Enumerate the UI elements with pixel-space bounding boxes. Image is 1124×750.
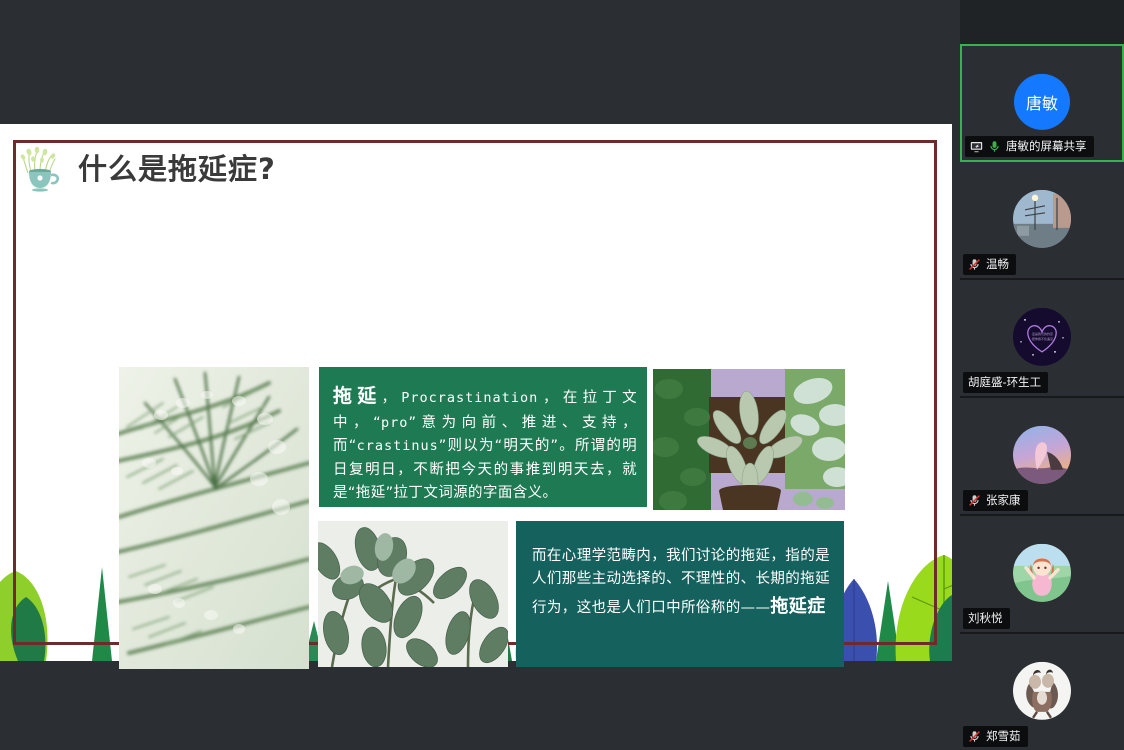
- tile-wenchang[interactable]: 温畅: [960, 162, 1124, 280]
- shared-screen-region: 什么是拖延症?: [0, 0, 960, 750]
- avatar: [1013, 426, 1071, 484]
- meeting-window: 什么是拖延症?: [0, 0, 1124, 750]
- svg-text:·爱是我们的约定·: ·爱是我们的约定·: [1031, 331, 1054, 336]
- microphone-muted-icon: [968, 258, 981, 271]
- participant-name: 温畅: [986, 256, 1009, 272]
- definition-latin-crastinus: crastinus: [357, 438, 439, 454]
- definition-quote-open: “: [373, 415, 381, 431]
- psychology-keyword: 拖延症: [770, 596, 825, 617]
- tile-screen-share[interactable]: 唐敏 唐敏的屏幕共享: [960, 44, 1124, 162]
- status-badge: 唐敏的屏幕共享: [965, 136, 1094, 157]
- avatar: ·爱是我们的约定··愿你我不负遇见·: [1013, 308, 1071, 366]
- tile-zhengxueru[interactable]: 郑雪茹: [960, 634, 1124, 750]
- definition-box: 拖延，Procrastination，在拉丁文中，“pro”意为向前、推进、支持…: [319, 367, 647, 507]
- definition-keyword: 拖延: [333, 385, 382, 407]
- participant-name: 刘秋悦: [968, 610, 1003, 626]
- tile-hutingsheng[interactable]: ·爱是我们的约定··愿你我不负遇见· 胡庭盛-环生工: [960, 280, 1124, 398]
- psychology-text: 而在心理学范畴内，我们讨论的拖延，指的是人们那些主动选择的、不理性的、长期的拖延…: [516, 521, 844, 621]
- palm-leaves-photo: [119, 367, 309, 669]
- avatar: [1013, 662, 1071, 720]
- participant-rail[interactable]: 唐敏 唐敏的屏幕共享: [960, 0, 1124, 750]
- page-title: 什么是拖延症?: [78, 155, 276, 184]
- avatar-initials: 唐敏: [1026, 90, 1058, 114]
- participant-badge: 张家康: [963, 490, 1028, 511]
- avatar: [1013, 544, 1071, 602]
- participant-badge: 温畅: [963, 254, 1016, 275]
- screen-share-icon: [970, 140, 983, 153]
- psychology-box: 而在心理学范畴内，我们讨论的拖延，指的是人们那些主动选择的、不理性的、长期的拖延…: [516, 521, 844, 667]
- slide-title-row: 什么是拖延症?: [18, 146, 276, 192]
- definition-text: 拖延，Procrastination，在拉丁文中，“pro”意为向前、推进、支持…: [319, 367, 647, 506]
- participant-name: 郑雪茹: [986, 728, 1021, 744]
- participant-badge: 刘秋悦: [963, 608, 1010, 629]
- potted-herbs-photo: [653, 369, 845, 510]
- definition-latin-pro: pro: [381, 415, 408, 431]
- tile-liuqiuyue[interactable]: 刘秋悦: [960, 516, 1124, 634]
- participant-badge: 胡庭盛-环生工: [963, 372, 1048, 393]
- teacup-plant-icon: [18, 146, 62, 192]
- rail-top-spacer: [960, 0, 1124, 44]
- avatar: 唐敏: [1014, 74, 1070, 130]
- participant-name: 唐敏的屏幕共享: [1006, 138, 1087, 154]
- microphone-unmuted-icon: [988, 140, 1001, 153]
- rubber-plant-photo: [318, 521, 508, 667]
- tile-zhangjiakang[interactable]: 张家康: [960, 398, 1124, 516]
- participant-name: 胡庭盛-环生工: [968, 374, 1041, 390]
- presentation-slide: 什么是拖延症?: [0, 124, 952, 661]
- avatar: [1013, 190, 1071, 248]
- definition-english-term: Procrastination: [401, 390, 538, 406]
- participant-name: 张家康: [986, 492, 1021, 508]
- svg-text:·愿你我不负遇见·: ·愿你我不负遇见·: [1031, 336, 1054, 341]
- microphone-muted-icon: [968, 730, 981, 743]
- microphone-muted-icon: [968, 494, 981, 507]
- definition-comma: ，: [382, 390, 402, 406]
- participant-badge: 郑雪茹: [963, 726, 1028, 747]
